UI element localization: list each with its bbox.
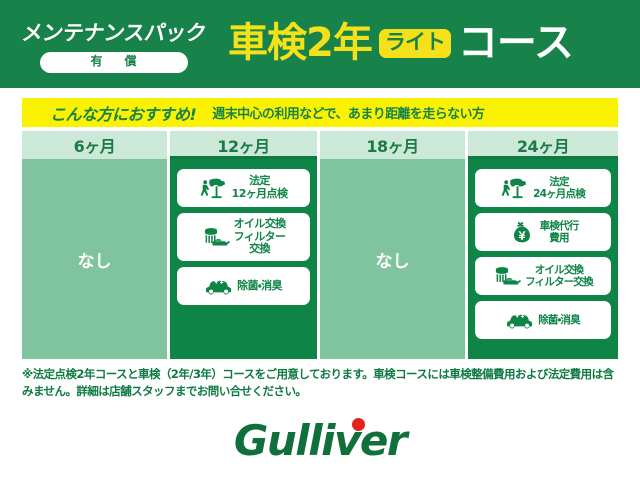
paid-badge: 有 償 — [40, 52, 187, 72]
service-item: オイル交換 フィルター 交換 — [177, 213, 310, 261]
oil-filter-icon — [202, 225, 230, 249]
recommendation-banner: こんな方におすすめ! 週末中心の利用などで、あまり距離を走らない方 — [22, 98, 618, 127]
column-body-none-6ヶ月: なし — [22, 159, 170, 359]
oil-filter-icon — [493, 264, 521, 288]
service-item-label: 法定 24ヶ月点検 — [533, 176, 585, 200]
brand-logo: Gulliver — [0, 412, 640, 468]
car-on-lift-icon — [501, 176, 529, 200]
maintenance-pack-title: メンテナンスパック — [20, 17, 208, 47]
maintenance-schedule-table: 6ヶ月なし12ヶ月法定 12ヶ月点検オイル交換 フィルター 交換除菌・消臭18ヶ… — [22, 131, 618, 359]
service-item-label: 車検代行 費用 — [540, 220, 579, 244]
gulliver-logo-text: Gulliver — [234, 416, 406, 465]
car-on-lift-icon — [200, 176, 228, 200]
service-item-label: オイル交換 フィルター交換 — [525, 264, 593, 288]
header-course-block: 車検2年 ライト コース — [228, 23, 640, 65]
service-item-label: 法定 12ヶ月点検 — [232, 175, 288, 200]
service-item: オイル交換 フィルター交換 — [475, 257, 611, 295]
footnote-text: ※法定点検2年コースと車検（2年/3年）コースをご用意しております。車検コースに… — [22, 366, 622, 399]
column-header-6ヶ月: 6ヶ月 — [22, 131, 170, 159]
column-header-24ヶ月: 24ヶ月 — [468, 131, 618, 159]
service-item-label: オイル交換 フィルター 交換 — [234, 218, 286, 256]
course-suffix-title: コース — [458, 23, 573, 63]
money-bag-yen-icon — [508, 220, 536, 244]
gulliver-wordmark: Gulliver — [234, 416, 406, 465]
header-banner: メンテナンスパック 有 償 車検2年 ライト コース — [0, 0, 640, 88]
recommendation-description: 週末中心の利用などで、あまり距離を走らない方 — [212, 103, 484, 122]
none-label: なし — [376, 247, 410, 272]
car-sparkle-icon — [205, 274, 233, 298]
column-header-12ヶ月: 12ヶ月 — [170, 131, 320, 159]
table-column-12ヶ月: 12ヶ月法定 12ヶ月点検オイル交換 フィルター 交換除菌・消臭 — [170, 131, 320, 359]
service-item: 法定 24ヶ月点検 — [475, 169, 611, 207]
header-brand-block: メンテナンスパック 有 償 — [0, 15, 228, 72]
column-body-items-24ヶ月: 法定 24ヶ月点検車検代行 費用オイル交換 フィルター交換除菌・消臭 — [468, 159, 618, 359]
service-item-label: 除菌・消臭 — [237, 280, 282, 293]
column-body-none-18ヶ月: なし — [320, 159, 468, 359]
service-item: 除菌・消臭 — [177, 267, 310, 305]
table-column-18ヶ月: 18ヶ月なし — [320, 131, 468, 359]
column-body-items-12ヶ月: 法定 12ヶ月点検オイル交換 フィルター 交換除菌・消臭 — [170, 159, 320, 359]
service-item: 除菌・消臭 — [475, 301, 611, 339]
service-item: 車検代行 費用 — [475, 213, 611, 251]
service-item-label: 除菌・消臭 — [538, 314, 580, 326]
table-column-24ヶ月: 24ヶ月法定 24ヶ月点検車検代行 費用オイル交換 フィルター交換除菌・消臭 — [468, 131, 618, 359]
light-course-badge: ライト — [379, 29, 451, 58]
none-label: なし — [78, 247, 112, 272]
table-column-6ヶ月: 6ヶ月なし — [22, 131, 170, 359]
column-header-18ヶ月: 18ヶ月 — [320, 131, 468, 159]
service-item: 法定 12ヶ月点検 — [177, 169, 310, 207]
course-main-title: 車検2年 — [228, 23, 372, 63]
recommendation-heading: こんな方におすすめ! — [50, 101, 196, 125]
logo-red-dot-icon — [352, 418, 365, 431]
car-sparkle-icon — [506, 308, 534, 332]
